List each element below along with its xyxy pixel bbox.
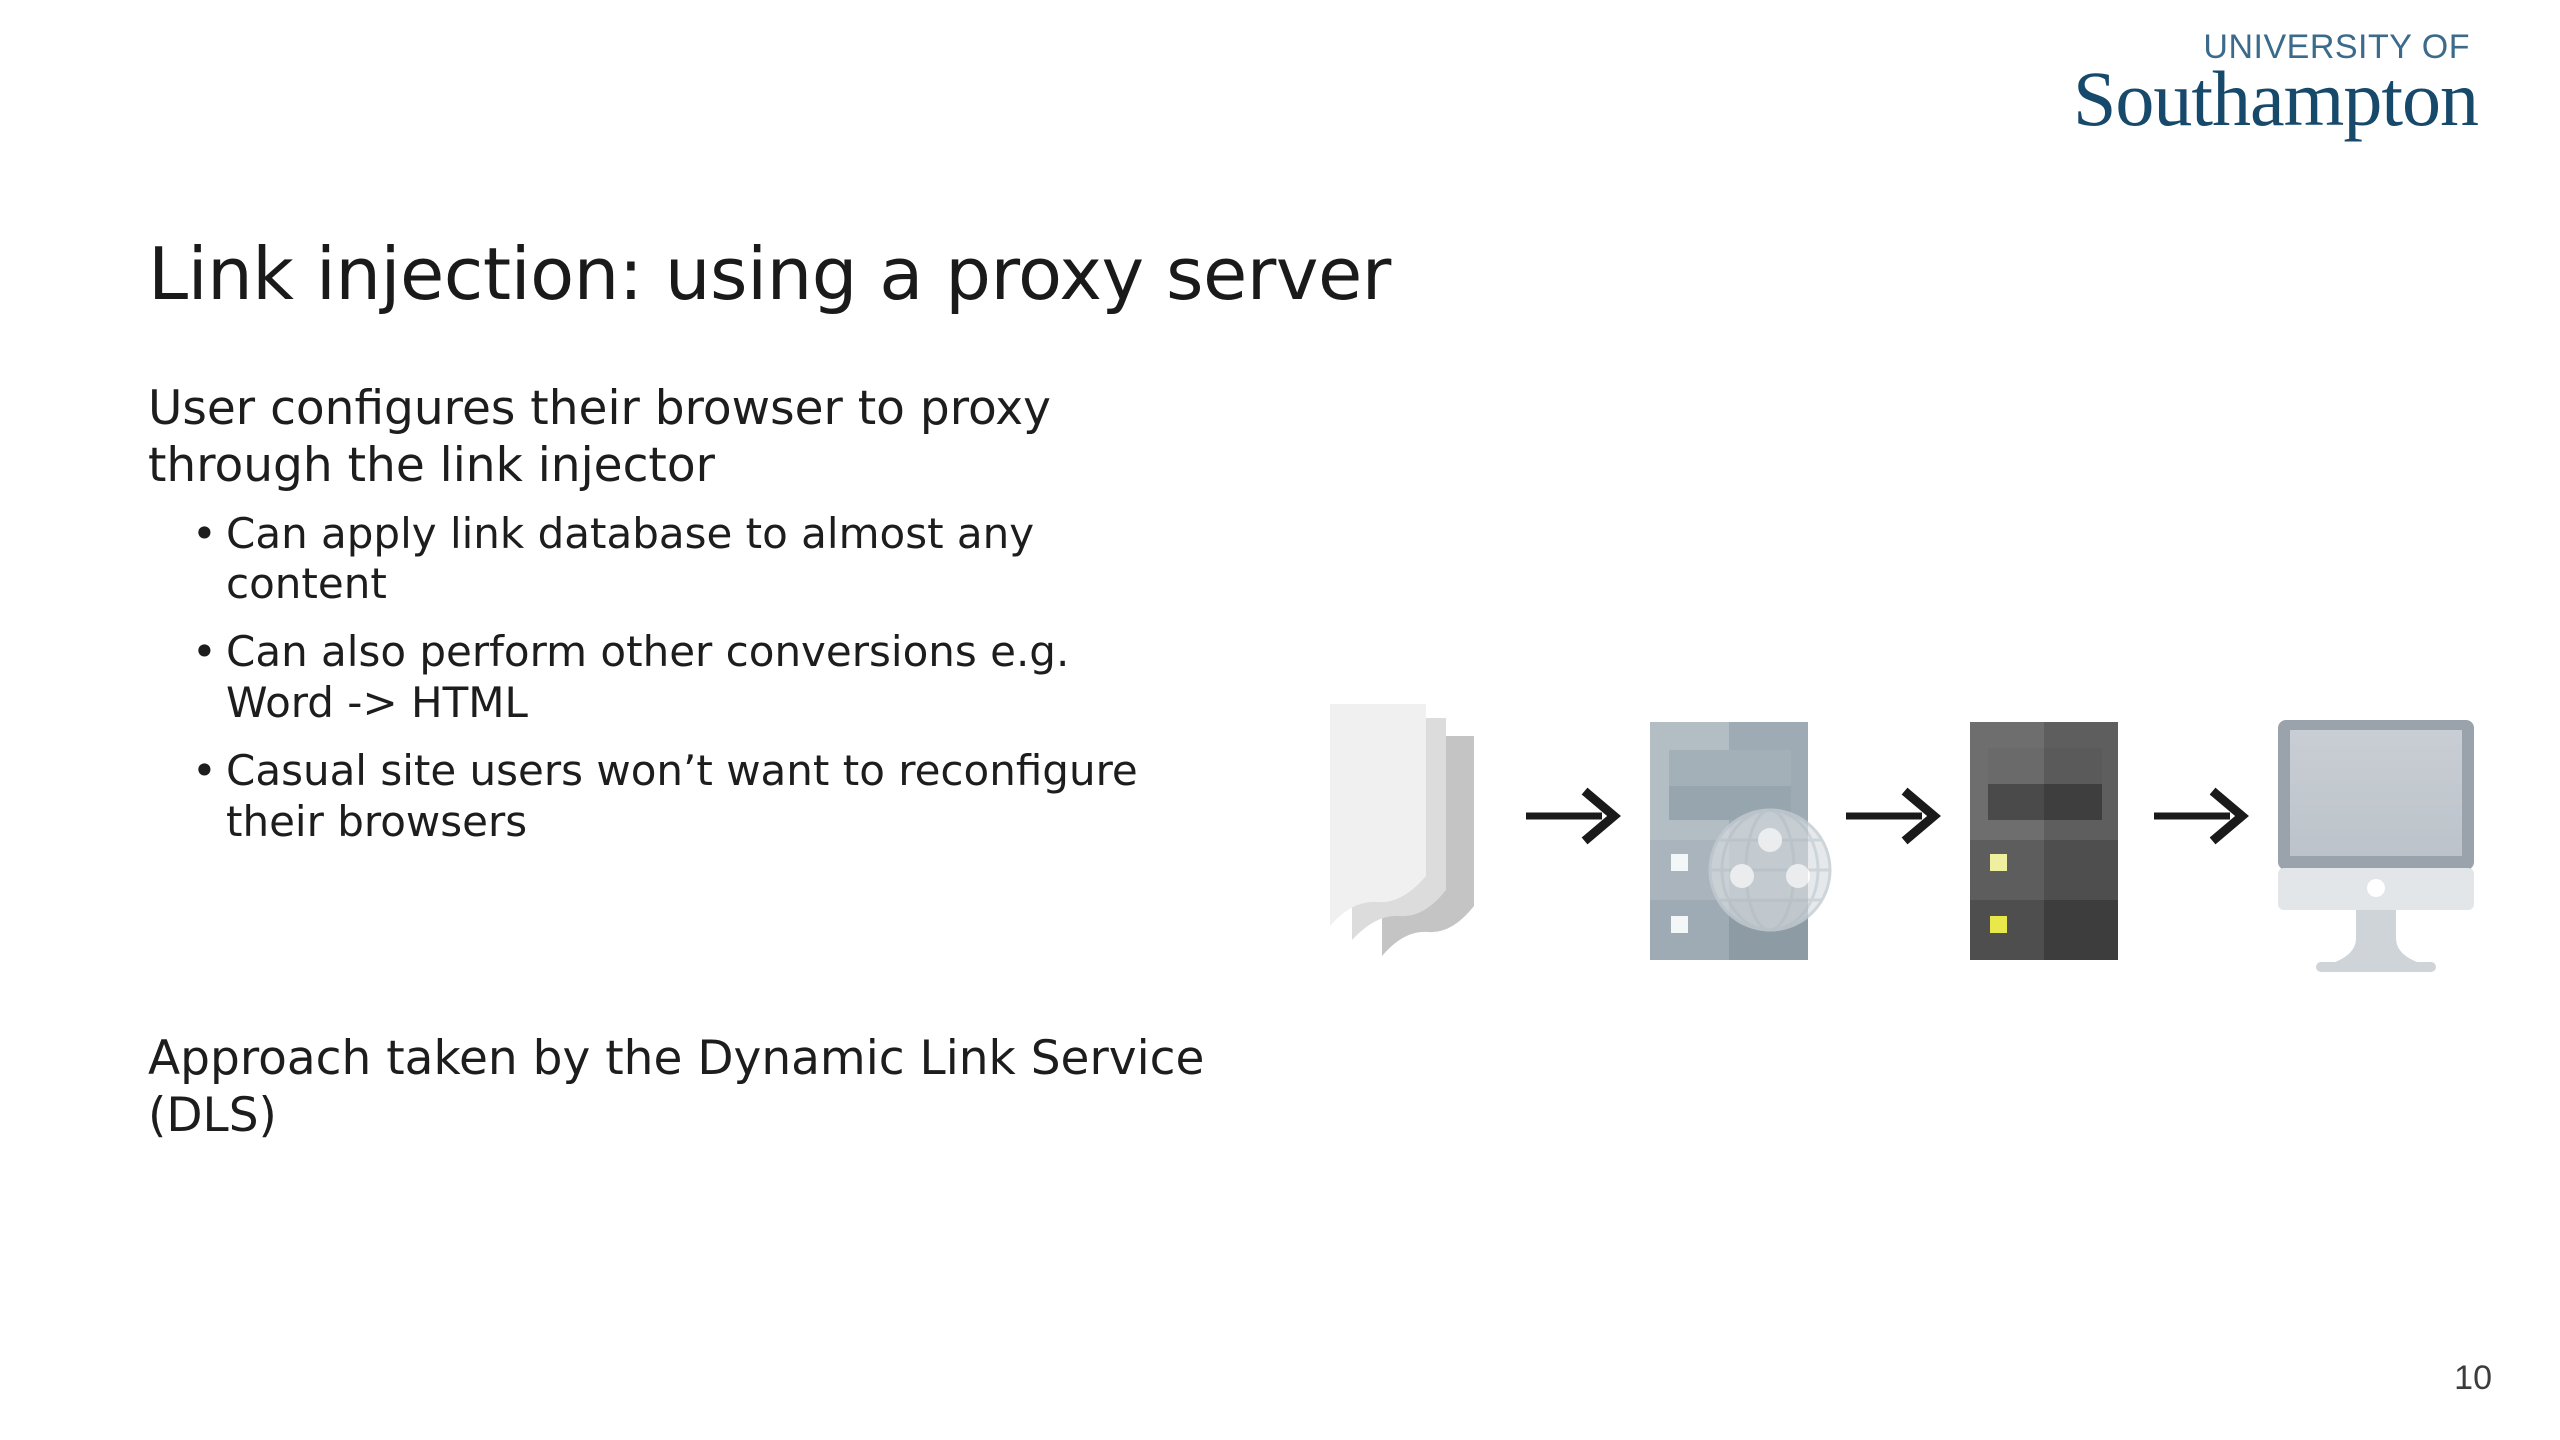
list-item: • Can also perform other conversions e.g… [226, 627, 1166, 728]
arrow-right-icon [1526, 794, 1614, 838]
bullet-icon: • [192, 627, 217, 677]
bullet-icon: • [192, 746, 217, 796]
lead-paragraph: User configures their browser to proxy t… [148, 380, 1168, 495]
list-item: • Can apply link database to almost any … [226, 509, 1166, 610]
list-item-label: Casual site users won’t want to reconfig… [226, 746, 1138, 845]
bullet-list: • Can apply link database to almost any … [148, 509, 1228, 847]
arrow-right-icon [1846, 794, 1934, 838]
pipeline-diagram [1330, 700, 2510, 1000]
university-logo: UNIVERSITY OF Southampton [2073, 30, 2478, 138]
arrow-right-icon [2154, 794, 2242, 838]
list-item-label: Can apply link database to almost any co… [226, 509, 1034, 608]
server-rack-icon [1970, 722, 2118, 960]
closing-paragraph: Approach taken by the Dynamic Link Servi… [148, 1030, 1208, 1145]
list-item-label: Can also perform other conversions e.g. … [226, 627, 1069, 726]
logo-line-southampton: Southampton [2073, 60, 2478, 138]
content-column: User configures their browser to proxy t… [148, 380, 1228, 865]
slide-number: 10 [2454, 1359, 2492, 1398]
slide-canvas: UNIVERSITY OF Southampton Link injection… [0, 0, 2560, 1440]
web-server-globe-icon [1650, 722, 1830, 960]
desktop-monitor-icon [2278, 720, 2474, 972]
list-item: • Casual site users won’t want to reconf… [226, 746, 1166, 847]
led-indicator-icon [1990, 916, 2007, 933]
page-title: Link injection: using a proxy server [148, 232, 1391, 316]
led-indicator-icon [1990, 854, 2007, 871]
documents-stack-icon [1330, 704, 1474, 956]
bullet-icon: • [192, 509, 217, 559]
